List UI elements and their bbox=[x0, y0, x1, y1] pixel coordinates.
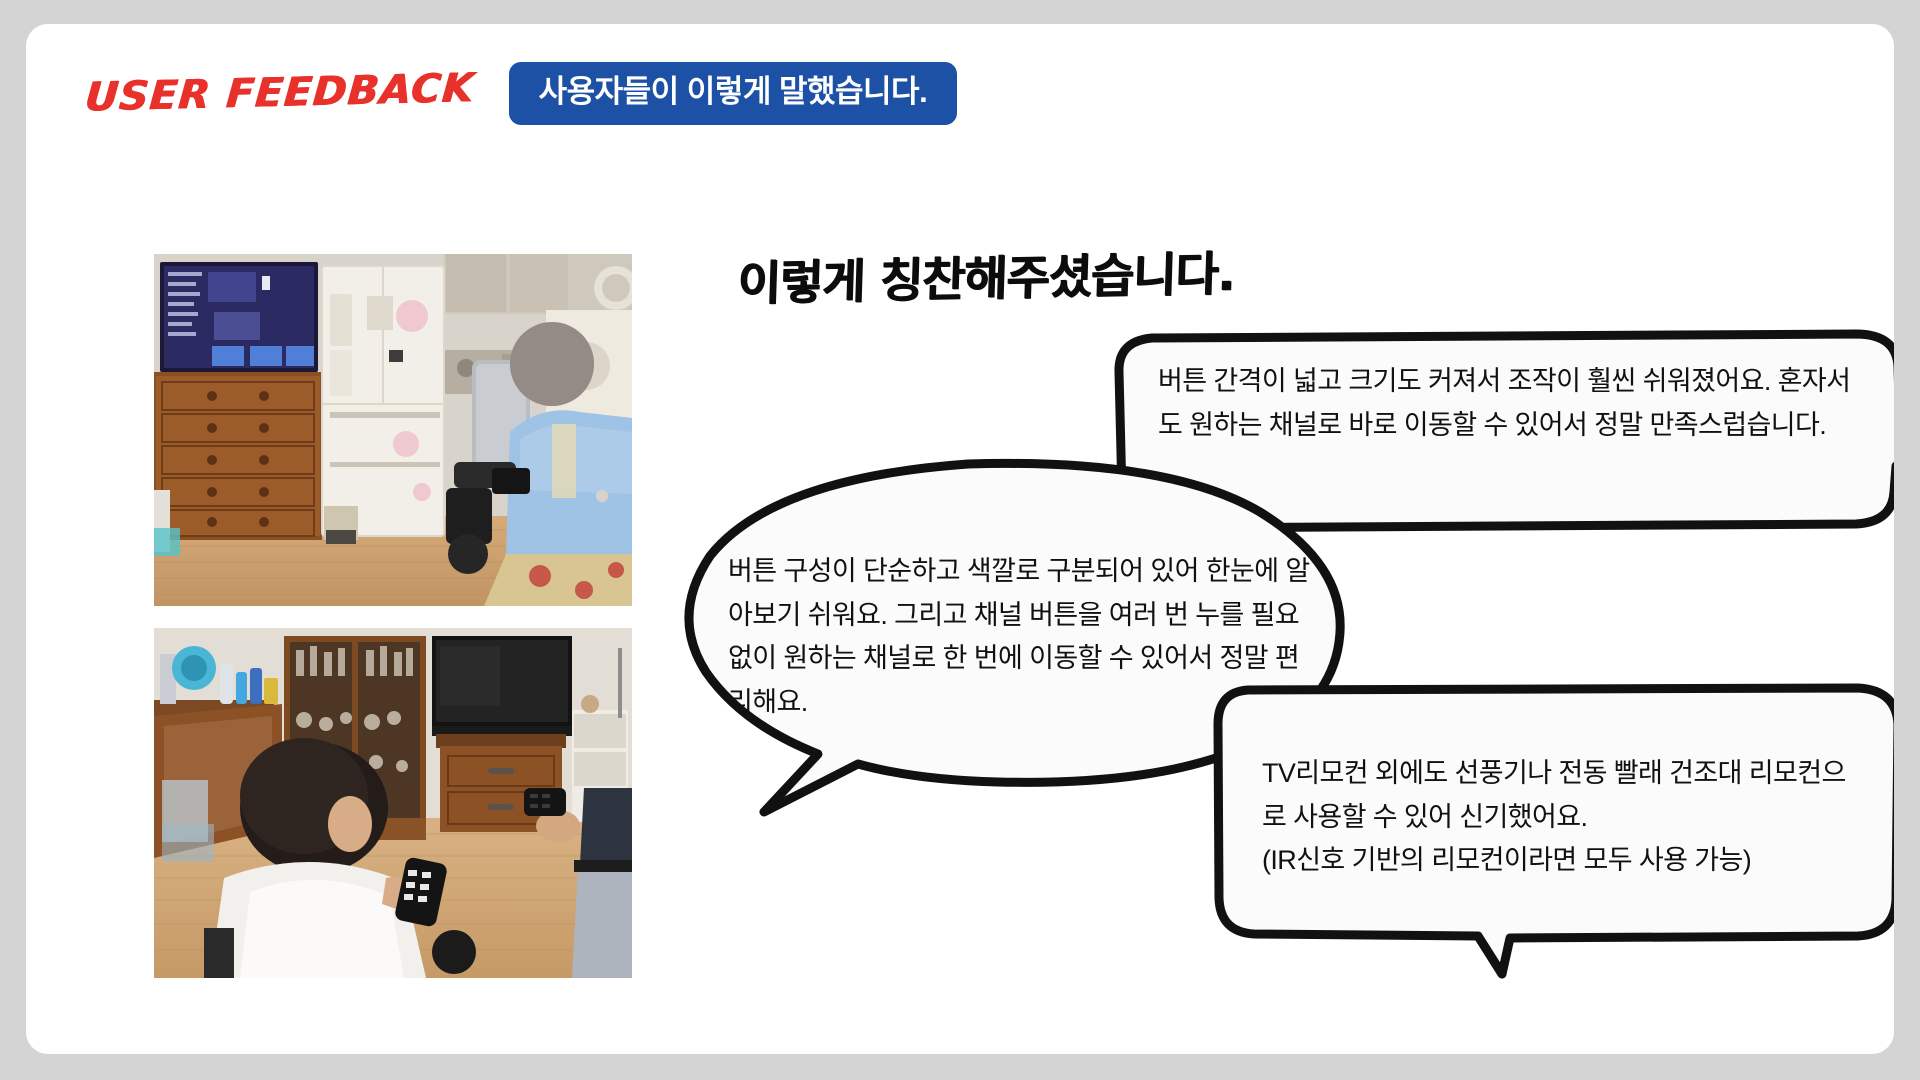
photo-2-illustration bbox=[154, 628, 632, 978]
testimonial-bubble-1-text: 버튼 간격이 넓고 크기도 커져서 조작이 훨씬 쉬워졌어요. 혼자서도 원하는… bbox=[1158, 360, 1858, 447]
testimonial-bubble-3-text: TV리모컨 외에도 선풍기나 전동 빨래 건조대 리모컨으로 사용할 수 있어 … bbox=[1262, 752, 1862, 883]
photo-user-back-view-holding-remote bbox=[154, 628, 632, 978]
section-eyebrow-label: USER FEEDBACK bbox=[84, 66, 477, 121]
photo-1-illustration bbox=[154, 254, 632, 606]
section-title-badge: 사용자들이 이렇게 말했습니다. bbox=[509, 62, 958, 125]
page-headline: 이렇게 칭찬해주셨습니다. bbox=[737, 235, 1236, 314]
content-card: USER FEEDBACK 사용자들이 이렇게 말했습니다. bbox=[26, 24, 1894, 1054]
header: USER FEEDBACK 사용자들이 이렇게 말했습니다. bbox=[86, 62, 957, 125]
photo-wheelchair-user-with-remote-facing-tv bbox=[154, 254, 632, 606]
testimonial-bubble-3: TV리모컨 외에도 선풍기나 전동 빨래 건조대 리모컨으로 사용할 수 있어 … bbox=[1214, 684, 1894, 1054]
slide-canvas: USER FEEDBACK 사용자들이 이렇게 말했습니다. bbox=[0, 0, 1920, 1080]
